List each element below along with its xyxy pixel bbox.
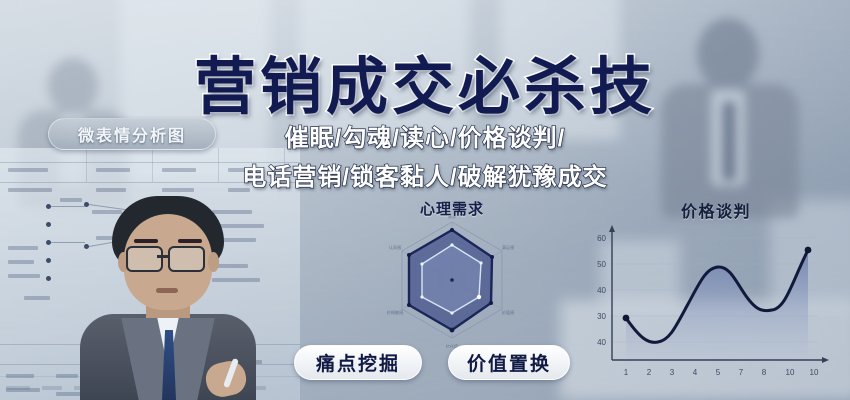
data-point-end bbox=[805, 247, 812, 254]
radar-axis-label: 价值感 bbox=[502, 309, 515, 316]
x-tick-label: 4 bbox=[693, 368, 698, 377]
pill-pain-point-mining[interactable]: 痛点挖掘 bbox=[294, 345, 422, 380]
line-chart: 价格谈判 60 50 40 30 40 bbox=[596, 198, 836, 384]
x-tick-label: 10 bbox=[810, 368, 819, 377]
mouth bbox=[156, 288, 178, 293]
x-tick-label: 8 bbox=[762, 368, 767, 377]
eyeglasses-left-lens bbox=[126, 246, 163, 272]
eyeglasses-right-lens bbox=[168, 246, 205, 272]
x-tick-label: 5 bbox=[716, 368, 721, 377]
presenter-figure bbox=[78, 196, 258, 400]
subtitle-line-2: 电话营销/锁客黏人/破解犹豫成交 bbox=[0, 157, 850, 192]
x-tick-label: 3 bbox=[670, 368, 675, 377]
tag-badge-micro-expression: 微表情分析图 bbox=[48, 118, 216, 150]
y-tick-label: 30 bbox=[597, 312, 606, 321]
data-point-start bbox=[623, 315, 630, 322]
radar-axis-label: 需求 bbox=[448, 216, 457, 220]
x-tick-label: 1 bbox=[624, 368, 629, 377]
radar-axis-label: 满足感 bbox=[502, 244, 515, 251]
y-tick-label: 60 bbox=[597, 234, 606, 243]
radar-chart: 心理需求 bbox=[338, 198, 566, 348]
eyeglasses-bridge bbox=[157, 255, 169, 258]
y-tick-label: 40 bbox=[597, 338, 606, 347]
y-tick-label: 40 bbox=[597, 286, 606, 295]
ear-right bbox=[208, 252, 219, 272]
x-tick-label: 2 bbox=[647, 368, 652, 377]
radar-chart-svg: 需求 满足感 价值感 信任度 价格敏感 认同感 bbox=[338, 216, 566, 348]
y-tick-label: 50 bbox=[597, 260, 606, 269]
x-tick-label: 7 bbox=[739, 368, 744, 377]
page-title: 营销成交必杀技 bbox=[0, 36, 850, 126]
radar-axis-label: 价格敏感 bbox=[387, 309, 404, 316]
pill-value-exchange[interactable]: 价值置换 bbox=[448, 345, 570, 380]
promo-banner: 心理需求 bbox=[0, 0, 850, 400]
eyebrow-left bbox=[134, 239, 158, 243]
eyebrow-right bbox=[178, 239, 202, 243]
x-tick-label: 10 bbox=[786, 368, 795, 377]
line-chart-svg: 60 50 40 30 40 1 2 3 4 5 7 8 10 bbox=[596, 220, 836, 382]
radar-axis-label: 认同感 bbox=[389, 244, 402, 251]
line-chart-title: 价格谈判 bbox=[596, 198, 836, 222]
